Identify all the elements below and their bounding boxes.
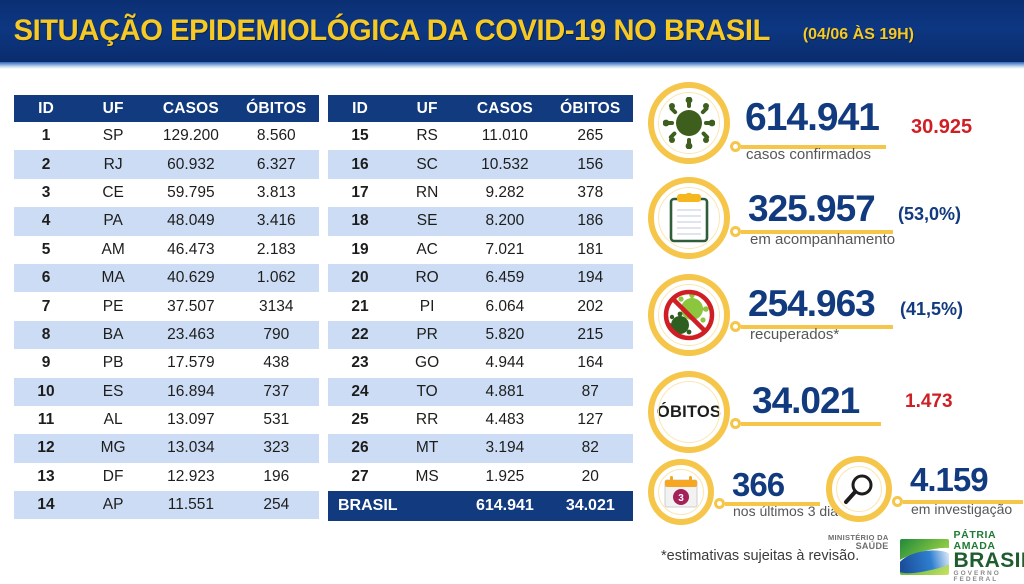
- brasil-logo-text: PÁTRIA AMADA BRASIL GOVERNO FEDERAL: [954, 530, 1024, 584]
- logo-line-3: GOVERNO FEDERAL: [954, 571, 1024, 584]
- cell-id: 19: [328, 236, 392, 264]
- deaths-delta: 1.473: [905, 391, 953, 413]
- table-row: 22PR5.820215: [328, 321, 633, 349]
- cell-uf: MG: [78, 434, 148, 462]
- last-3-days-value: 366: [732, 466, 784, 504]
- cell-id: 6: [14, 264, 78, 292]
- cell-id: 18: [328, 207, 392, 235]
- column-header-casos: CASOS: [148, 95, 233, 122]
- table-row: 7PE37.5073134: [14, 292, 319, 320]
- cell-id: 9: [14, 349, 78, 377]
- calendar-icon: 3: [648, 459, 714, 525]
- cell-obitos: 790: [234, 321, 319, 349]
- recovered-value: 254.963: [748, 283, 875, 325]
- table-header-row: ID UF CASOS ÓBITOS: [14, 95, 319, 122]
- total-obitos: 34.021: [548, 491, 633, 521]
- cell-uf: TO: [392, 378, 462, 406]
- cell-obitos: 3134: [234, 292, 319, 320]
- table-row: 2RJ60.9326.327: [14, 150, 319, 178]
- table-row: 17RN9.282378: [328, 179, 633, 207]
- cell-casos: 17.579: [148, 349, 233, 377]
- cell-casos: 8.200: [462, 207, 547, 235]
- cell-uf: BA: [78, 321, 148, 349]
- column-header-obitos: ÓBITOS: [234, 95, 319, 122]
- cell-casos: 16.894: [148, 378, 233, 406]
- cell-uf: RS: [392, 122, 462, 150]
- cell-id: 20: [328, 264, 392, 292]
- cell-uf: RN: [392, 179, 462, 207]
- cell-casos: 5.820: [462, 321, 547, 349]
- table-row: 21PI6.064202: [328, 292, 633, 320]
- cell-casos: 59.795: [148, 179, 233, 207]
- table-row: 10ES16.894737: [14, 378, 319, 406]
- cell-obitos: 438: [234, 349, 319, 377]
- cell-id: 10: [14, 378, 78, 406]
- table-row: 25RR4.483127: [328, 406, 633, 434]
- cell-obitos: 8.560: [234, 122, 319, 150]
- cell-casos: 12.923: [148, 463, 233, 491]
- cell-casos: 37.507: [148, 292, 233, 320]
- cell-casos: 4.881: [462, 378, 547, 406]
- report-date: (04/06 ÀS 19H): [803, 26, 914, 44]
- cell-casos: 4.483: [462, 406, 547, 434]
- logo-line-2: BRASIL: [954, 551, 1024, 571]
- cell-obitos: 164: [548, 349, 633, 377]
- cell-id: 4: [14, 207, 78, 235]
- cell-uf: MT: [392, 434, 462, 462]
- government-brasil-logo: PÁTRIA AMADA BRASIL GOVERNO FEDERAL: [900, 530, 1024, 584]
- table-row: 16SC10.532156: [328, 150, 633, 178]
- cell-casos: 10.532: [462, 150, 547, 178]
- table-row: 13DF12.923196: [14, 463, 319, 491]
- cell-casos: 23.463: [148, 321, 233, 349]
- cell-id: 16: [328, 150, 392, 178]
- monitoring-percent: (53,0%): [898, 204, 961, 225]
- cell-id: 24: [328, 378, 392, 406]
- column-header-uf: UF: [392, 95, 462, 122]
- recovered-percent: (41,5%): [900, 299, 963, 320]
- cell-uf: GO: [392, 349, 462, 377]
- confirmed-cases-delta: 30.925: [911, 116, 972, 139]
- cell-casos: 7.021: [462, 236, 547, 264]
- column-header-uf: UF: [78, 95, 148, 122]
- cell-casos: 48.049: [148, 207, 233, 235]
- cell-uf: PR: [392, 321, 462, 349]
- cell-casos: 13.097: [148, 406, 233, 434]
- cell-id: 22: [328, 321, 392, 349]
- cell-id: 14: [14, 491, 78, 519]
- table-row: 18SE8.200186: [328, 207, 633, 235]
- last-3-days-label: nos últimos 3 dias: [733, 503, 845, 519]
- cell-id: 8: [14, 321, 78, 349]
- no-virus-icon: [648, 274, 730, 356]
- cell-obitos: 737: [234, 378, 319, 406]
- brasil-flag-icon: [900, 539, 949, 575]
- cell-casos: 60.932: [148, 150, 233, 178]
- cell-obitos: 3.813: [234, 179, 319, 207]
- cell-uf: PB: [78, 349, 148, 377]
- monitoring-label: em acompanhamento: [750, 231, 895, 248]
- cell-obitos: 2.183: [234, 236, 319, 264]
- page-header: SITUAÇÃO EPIDEMIOLÓGICA DA COVID-19 NO B…: [0, 0, 1024, 62]
- cell-obitos: 87: [548, 378, 633, 406]
- column-header-id: ID: [14, 95, 78, 122]
- cell-obitos: 6.327: [234, 150, 319, 178]
- cell-uf: CE: [78, 179, 148, 207]
- cell-casos: 9.282: [462, 179, 547, 207]
- cell-uf: SC: [392, 150, 462, 178]
- cell-casos: 6.459: [462, 264, 547, 292]
- cell-casos: 3.194: [462, 434, 547, 462]
- investigation-label: em investigação: [911, 501, 1012, 517]
- cell-id: 7: [14, 292, 78, 320]
- cell-id: 12: [14, 434, 78, 462]
- table-row: 11AL13.097531: [14, 406, 319, 434]
- logo-line-1: PÁTRIA AMADA: [954, 530, 1024, 551]
- cell-obitos: 254: [234, 491, 319, 519]
- table-row: 27MS1.92520: [328, 463, 633, 491]
- cell-obitos: 202: [548, 292, 633, 320]
- cell-uf: AL: [78, 406, 148, 434]
- cell-id: 21: [328, 292, 392, 320]
- table-row: 23GO4.944164: [328, 349, 633, 377]
- cell-obitos: 265: [548, 122, 633, 150]
- cell-id: 27: [328, 463, 392, 491]
- table-total-row: BRASIL614.94134.021: [328, 491, 633, 521]
- table-row: 8BA23.463790: [14, 321, 319, 349]
- obitos-badge-icon: ÓBITOS: [648, 371, 730, 453]
- monitoring-value: 325.957: [748, 188, 875, 230]
- cell-obitos: 196: [234, 463, 319, 491]
- table-row: 14AP11.551254: [14, 491, 319, 519]
- table-row: 3CE59.7953.813: [14, 179, 319, 207]
- table-row: 5AM46.4732.183: [14, 236, 319, 264]
- cell-uf: AP: [78, 491, 148, 519]
- ministry-of-health-logo: MINISTÉRIO DA SAÚDE: [828, 534, 889, 551]
- table-row: 20RO6.459194: [328, 264, 633, 292]
- cell-obitos: 1.062: [234, 264, 319, 292]
- cell-casos: 1.925: [462, 463, 547, 491]
- clipboard-icon: [648, 177, 730, 259]
- cell-obitos: 156: [548, 150, 633, 178]
- cell-casos: 46.473: [148, 236, 233, 264]
- investigation-value: 4.159: [910, 461, 988, 499]
- cell-id: 3: [14, 179, 78, 207]
- table-row: 9PB17.579438: [14, 349, 319, 377]
- table-row: 26MT3.19482: [328, 434, 633, 462]
- total-label: BRASIL: [328, 491, 462, 521]
- table-row: 12MG13.034323: [14, 434, 319, 462]
- cell-obitos: 181: [548, 236, 633, 264]
- table-row: 1SP129.2008.560: [14, 122, 319, 150]
- cell-uf: AC: [392, 236, 462, 264]
- cell-uf: RR: [392, 406, 462, 434]
- cell-uf: MS: [392, 463, 462, 491]
- cell-obitos: 323: [234, 434, 319, 462]
- cell-id: 25: [328, 406, 392, 434]
- cell-casos: 11.551: [148, 491, 233, 519]
- cell-id: 5: [14, 236, 78, 264]
- cases-table-right: ID UF CASOS ÓBITOS 15RS11.01026516SC10.5…: [328, 95, 633, 521]
- cell-id: 17: [328, 179, 392, 207]
- cell-uf: PA: [78, 207, 148, 235]
- page-title: SITUAÇÃO EPIDEMIOLÓGICA DA COVID-19 NO B…: [0, 14, 770, 48]
- cell-obitos: 3.416: [234, 207, 319, 235]
- cell-uf: ES: [78, 378, 148, 406]
- table-row: 4PA48.0493.416: [14, 207, 319, 235]
- cell-obitos: 378: [548, 179, 633, 207]
- cell-uf: RJ: [78, 150, 148, 178]
- confirmed-cases-label: casos confirmados: [746, 146, 871, 163]
- virus-icon: [648, 82, 730, 164]
- table-row: 6MA40.6291.062: [14, 264, 319, 292]
- column-header-id: ID: [328, 95, 392, 122]
- header-divider: [0, 62, 1024, 69]
- cell-uf: AM: [78, 236, 148, 264]
- cell-uf: PI: [392, 292, 462, 320]
- column-header-obitos: ÓBITOS: [548, 95, 633, 122]
- cell-uf: SE: [392, 207, 462, 235]
- cell-obitos: 82: [548, 434, 633, 462]
- cell-id: 15: [328, 122, 392, 150]
- column-header-casos: CASOS: [462, 95, 547, 122]
- cell-obitos: 186: [548, 207, 633, 235]
- table-row: 15RS11.010265: [328, 122, 633, 150]
- cell-uf: DF: [78, 463, 148, 491]
- cell-id: 23: [328, 349, 392, 377]
- cell-casos: 11.010: [462, 122, 547, 150]
- deaths-value: 34.021: [752, 380, 859, 422]
- cell-obitos: 127: [548, 406, 633, 434]
- magnifier-icon: [826, 456, 892, 522]
- cell-id: 26: [328, 434, 392, 462]
- cell-obitos: 194: [548, 264, 633, 292]
- cell-uf: SP: [78, 122, 148, 150]
- cell-obitos: 20: [548, 463, 633, 491]
- total-casos: 614.941: [462, 491, 547, 521]
- cell-obitos: 531: [234, 406, 319, 434]
- table-row: 19AC7.021181: [328, 236, 633, 264]
- cell-casos: 129.200: [148, 122, 233, 150]
- table-row: 24TO4.88187: [328, 378, 633, 406]
- cell-uf: RO: [392, 264, 462, 292]
- cell-uf: PE: [78, 292, 148, 320]
- cell-casos: 40.629: [148, 264, 233, 292]
- summary-stats-panel: 614.941 casos confirmados 30.925 32: [640, 78, 1024, 498]
- cell-casos: 13.034: [148, 434, 233, 462]
- cell-casos: 4.944: [462, 349, 547, 377]
- cell-uf: MA: [78, 264, 148, 292]
- confirmed-cases-value: 614.941: [745, 96, 879, 140]
- cell-casos: 6.064: [462, 292, 547, 320]
- recovered-label: recuperados*: [750, 326, 839, 343]
- table-header-row: ID UF CASOS ÓBITOS: [328, 95, 633, 122]
- cell-id: 11: [14, 406, 78, 434]
- cell-id: 2: [14, 150, 78, 178]
- cases-table-left: ID UF CASOS ÓBITOS 1SP129.2008.5602RJ60.…: [14, 95, 319, 519]
- cell-id: 1: [14, 122, 78, 150]
- cell-obitos: 215: [548, 321, 633, 349]
- cell-id: 13: [14, 463, 78, 491]
- ministry-line-2: SAÚDE: [828, 542, 889, 551]
